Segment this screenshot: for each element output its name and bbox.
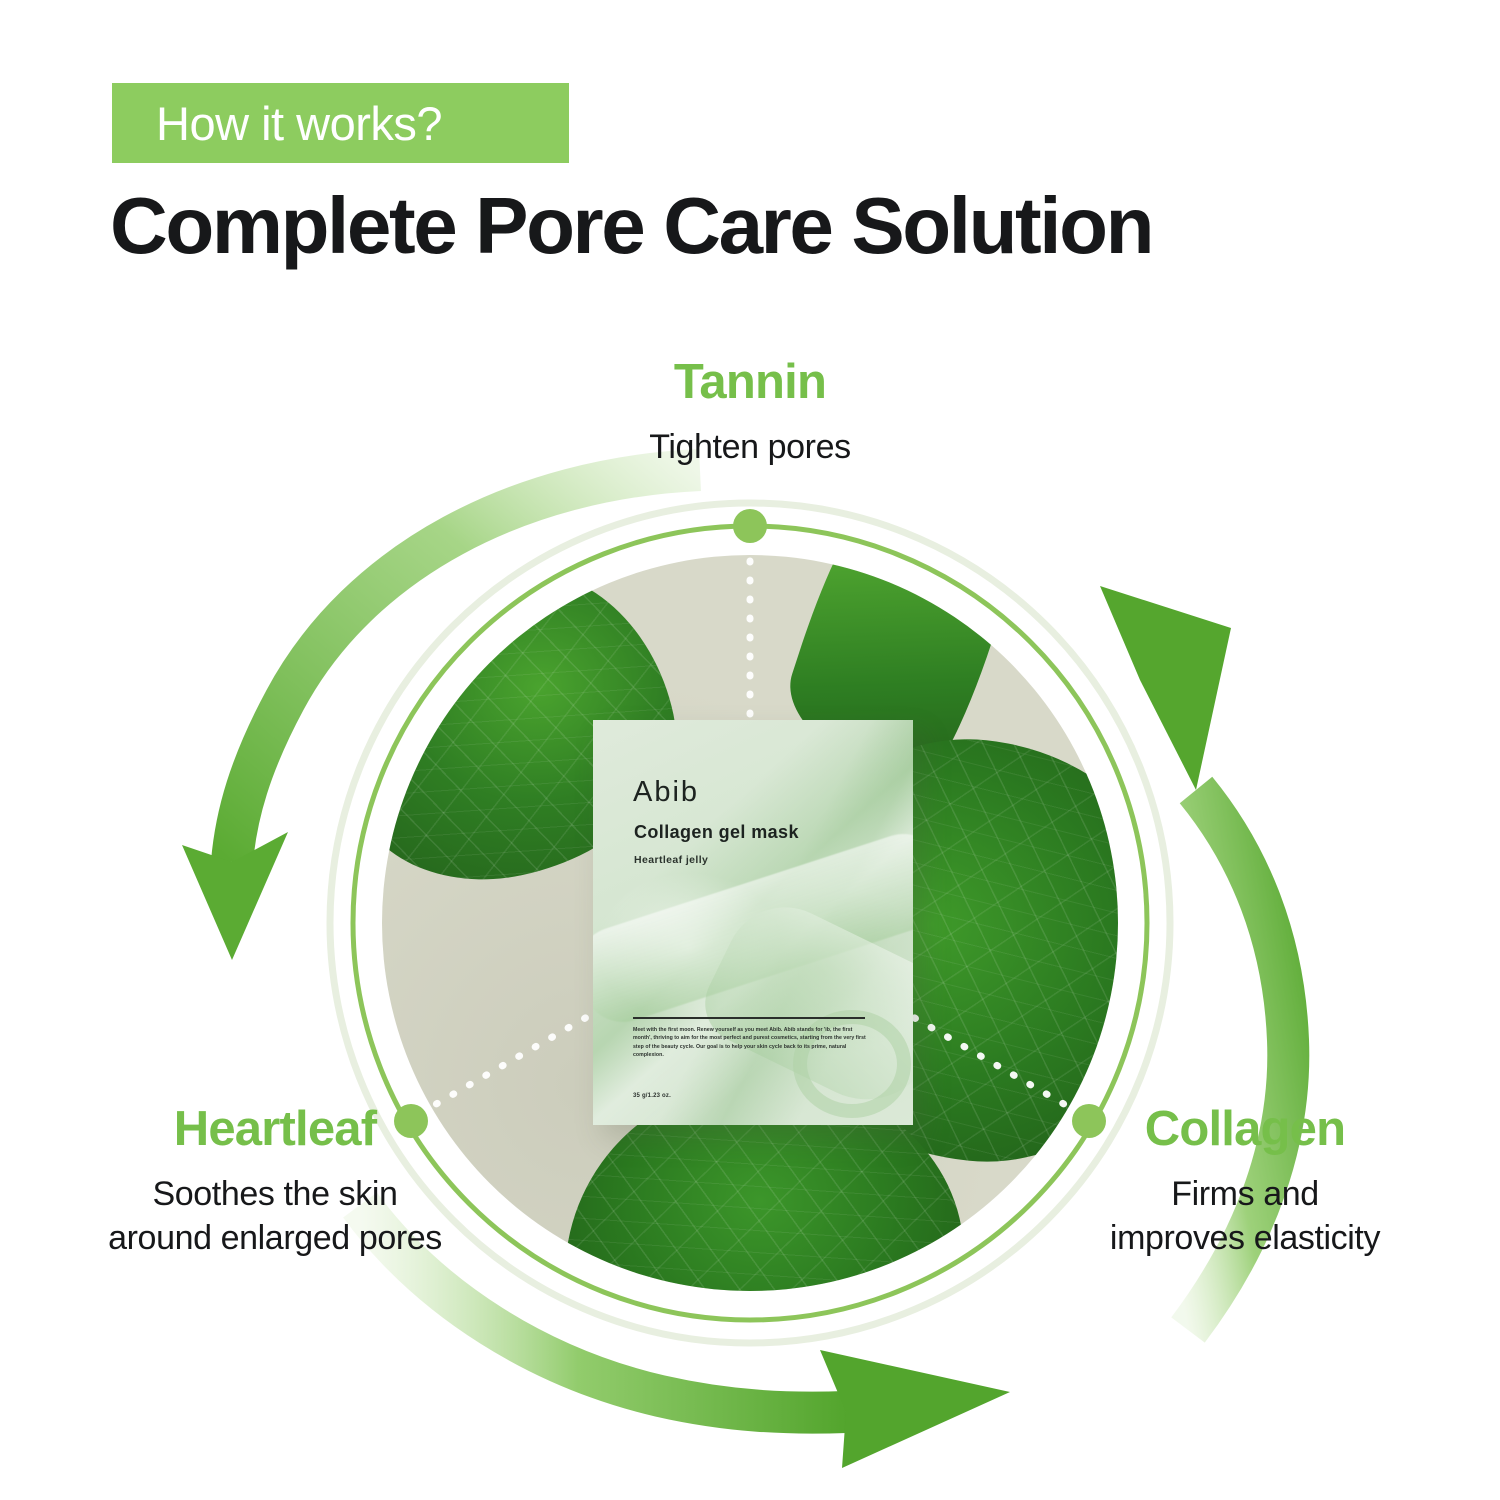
- node-label-tannin: Tannin Tighten pores: [0, 358, 1500, 470]
- node-label-heartleaf: Heartleaf Soothes the skin around enlarg…: [60, 1105, 490, 1260]
- node-desc-collagen-line1: Firms and: [1040, 1173, 1450, 1217]
- node-desc-collagen-line2: improves elasticity: [1040, 1217, 1450, 1261]
- node-title-heartleaf: Heartleaf: [60, 1105, 490, 1154]
- node-dot-icon-tannin: [733, 509, 767, 543]
- node-title-tannin: Tannin: [0, 358, 1500, 407]
- node-label-collagen: Collagen Firms and improves elasticity: [1040, 1105, 1450, 1260]
- node-dots-layer: [0, 0, 1500, 1500]
- node-desc-tannin: Tighten pores: [0, 426, 1500, 470]
- node-title-collagen: Collagen: [1040, 1105, 1450, 1154]
- node-desc-heartleaf-line2: around enlarged pores: [60, 1217, 490, 1261]
- node-desc-heartleaf-line1: Soothes the skin: [60, 1173, 490, 1217]
- node-desc-collagen: Firms and improves elasticity: [1040, 1173, 1450, 1260]
- node-desc-heartleaf: Soothes the skin around enlarged pores: [60, 1173, 490, 1260]
- infographic-page: How it works? Complete Pore Care Solutio…: [0, 0, 1500, 1500]
